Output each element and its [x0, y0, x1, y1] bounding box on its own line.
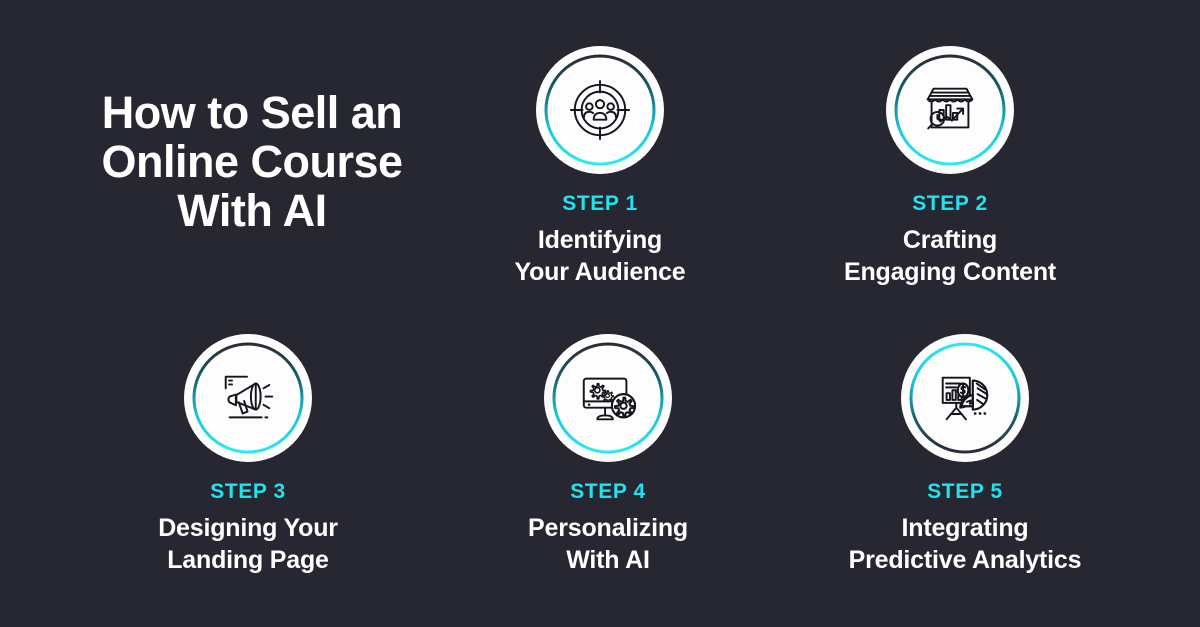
- step-1-title-line-1: Identifying: [450, 224, 750, 256]
- step-5-badge: [901, 334, 1029, 462]
- page-title-line-1: How to Sell an: [62, 88, 442, 137]
- step-5-number: STEP 5: [815, 480, 1115, 504]
- page-title-line-3: With AI: [62, 186, 442, 235]
- step-card-2: STEP 2 Crafting Engaging Content: [800, 46, 1100, 288]
- step-3-title-line-1: Designing Your: [98, 512, 398, 544]
- step-2-number: STEP 2: [800, 192, 1100, 216]
- step-card-4: STEP 4 Personalizing With AI: [458, 334, 758, 576]
- step-1-title-line-2: Your Audience: [450, 256, 750, 288]
- step-4-number: STEP 4: [458, 480, 758, 504]
- step-3-number: STEP 3: [98, 480, 398, 504]
- step-4-title: Personalizing With AI: [458, 512, 758, 576]
- step-3-badge: [184, 334, 312, 462]
- step-card-1: STEP 1 Identifying Your Audience: [450, 46, 750, 288]
- infographic-canvas: How to Sell an Online Course With AI: [0, 0, 1200, 627]
- step-4-title-line-1: Personalizing: [458, 512, 758, 544]
- step-2-title-line-1: Crafting: [800, 224, 1100, 256]
- step-1-badge: [536, 46, 664, 174]
- target-audience-icon: [569, 79, 631, 141]
- step-5-title: Integrating Predictive Analytics: [815, 512, 1115, 576]
- page-title: How to Sell an Online Course With AI: [62, 88, 442, 235]
- step-2-title-line-2: Engaging Content: [800, 256, 1100, 288]
- step-2-title: Crafting Engaging Content: [800, 224, 1100, 288]
- step-4-badge: [544, 334, 672, 462]
- step-card-5: STEP 5 Integrating Predictive Analytics: [815, 334, 1115, 576]
- step-5-title-line-1: Integrating: [815, 512, 1115, 544]
- presentation-pie-chart-icon: [934, 367, 996, 429]
- step-3-title-line-2: Landing Page: [98, 544, 398, 576]
- step-card-3: STEP 3 Designing Your Landing Page: [98, 334, 398, 576]
- step-3-title: Designing Your Landing Page: [98, 512, 398, 576]
- megaphone-icon: [217, 367, 279, 429]
- storefront-analytics-icon: [919, 79, 981, 141]
- step-1-number: STEP 1: [450, 192, 750, 216]
- step-2-badge: [886, 46, 1014, 174]
- step-5-title-line-2: Predictive Analytics: [815, 544, 1115, 576]
- monitor-gears-icon: [577, 367, 639, 429]
- page-title-line-2: Online Course: [62, 137, 442, 186]
- step-4-title-line-2: With AI: [458, 544, 758, 576]
- step-1-title: Identifying Your Audience: [450, 224, 750, 288]
